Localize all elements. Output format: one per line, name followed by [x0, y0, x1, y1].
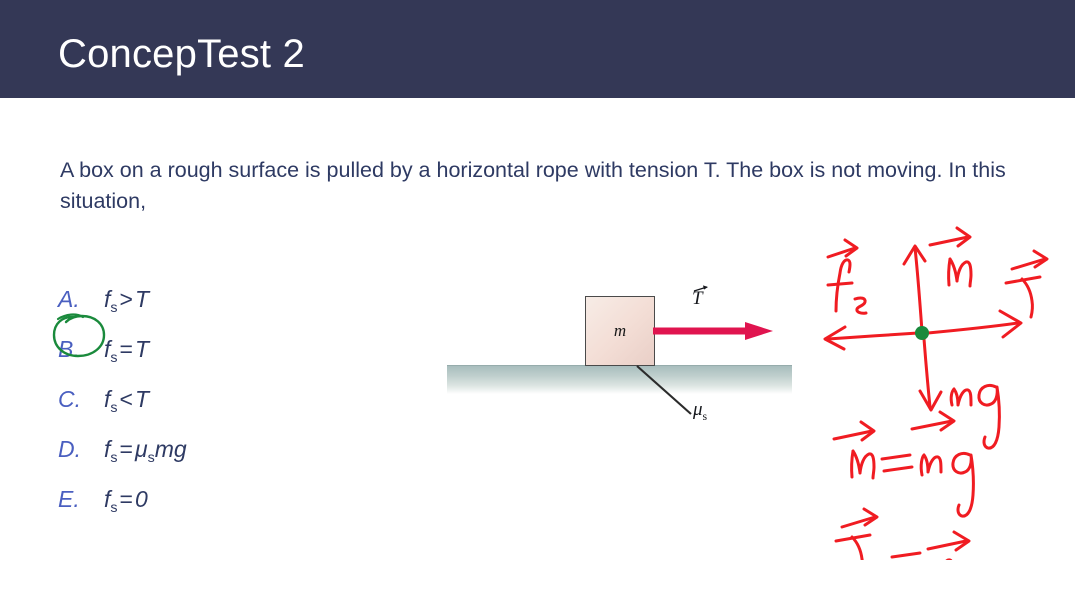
weight-label-ink [951, 385, 999, 448]
option-row-a[interactable]: A. fs>T [58, 286, 388, 336]
weight-arrow-icon [920, 339, 941, 410]
option-e-subscript: s [110, 500, 117, 516]
free-body-origin-dot [915, 326, 929, 340]
handwriting-ink-layer [800, 215, 1075, 560]
option-b-subscript: s [110, 350, 117, 366]
equation-tension-equals-friction-ink [836, 509, 969, 560]
physics-figure: m T μs [440, 268, 800, 438]
option-formula-a: fs>T [104, 286, 149, 313]
option-formula-b: fs=T [104, 336, 149, 363]
friction-leader-line [635, 364, 695, 416]
friction-coefficient-symbol: μ [693, 399, 703, 420]
option-a-operator: > [118, 286, 135, 312]
option-c-operator: < [118, 386, 135, 412]
static-friction-arrow-icon [825, 327, 918, 349]
option-e-operator: = [118, 486, 135, 512]
option-e-right: 0 [135, 486, 148, 512]
answer-options-list: A. fs>T B. fs=T C. fs<T D. fs=μsmg E. fs… [58, 286, 388, 536]
option-d-operator: = [118, 436, 135, 462]
option-letter-b: B. [58, 336, 104, 363]
option-letter-c: C. [58, 386, 104, 413]
normal-force-label-ink [930, 228, 971, 286]
option-row-e[interactable]: E. fs=0 [58, 486, 388, 536]
static-friction-label-ink [828, 240, 866, 313]
tension-label-ink [1006, 251, 1047, 317]
mass-box-label: m [586, 297, 654, 365]
option-a-subscript: s [110, 300, 117, 316]
question-text: A box on a rough surface is pulled by a … [60, 155, 1020, 217]
option-formula-e: fs=0 [104, 486, 148, 513]
option-row-d[interactable]: D. fs=μsmg [58, 436, 388, 486]
option-d-subscript: s [110, 450, 117, 466]
tension-arrow-handwritten-icon [928, 311, 1021, 337]
option-b-right: T [135, 336, 149, 362]
option-formula-c: fs<T [104, 386, 149, 413]
handwritten-free-body-diagram [800, 215, 1075, 560]
friction-coefficient-label: μs [693, 399, 707, 424]
vector-arrow-accent-icon [693, 285, 709, 293]
option-c-subscript: s [110, 400, 117, 416]
option-c-right: T [135, 386, 149, 412]
option-b-operator: = [118, 336, 135, 362]
friction-coefficient-subscript: s [703, 410, 708, 423]
mass-box: m [585, 296, 655, 366]
option-row-c[interactable]: C. fs<T [58, 386, 388, 436]
slide-header-bar: ConcepTest 2 [0, 0, 1075, 98]
tension-label: T [692, 288, 703, 310]
ground-surface [447, 366, 792, 394]
option-d-right: μsmg [135, 436, 187, 462]
page-title: ConcepTest 2 [58, 32, 305, 77]
option-row-b[interactable]: B. fs=T [58, 336, 388, 386]
option-letter-e: E. [58, 486, 104, 513]
normal-force-arrow-icon [904, 246, 925, 331]
option-a-right: T [135, 286, 149, 312]
option-formula-d: fs=μsmg [104, 436, 187, 463]
option-letter-d: D. [58, 436, 104, 463]
tension-arrow-icon [653, 320, 775, 342]
option-letter-a: A. [58, 286, 104, 313]
equation-normal-equals-weight-ink [834, 412, 973, 516]
